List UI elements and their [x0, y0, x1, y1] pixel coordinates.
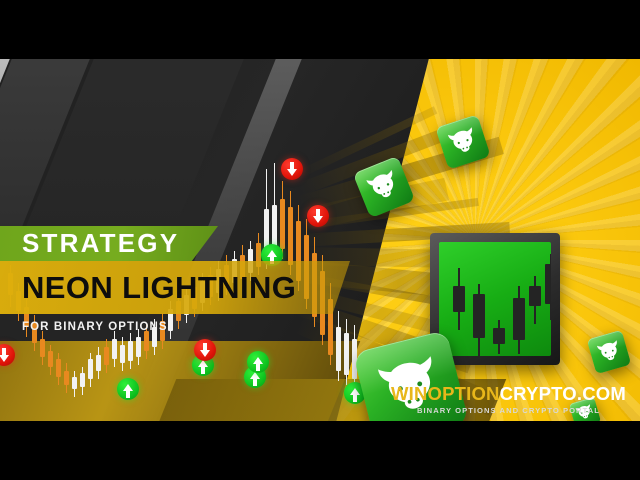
tile-candle-body: [529, 286, 541, 306]
candle-body: [80, 373, 85, 387]
candlestick-tile-face: [439, 242, 551, 356]
arrow-up-icon: [123, 384, 133, 391]
tile-candle-body: [453, 286, 465, 312]
brand-lockup: WINOPTIONCRYPTO.COM BINARY OPTIONS AND C…: [391, 385, 626, 416]
candle-body: [40, 339, 45, 357]
candle-body: [48, 351, 53, 367]
candle-body: [120, 345, 125, 363]
candle-body: [112, 339, 117, 359]
sell-signal-marker: [307, 205, 329, 227]
arrow-down-icon: [287, 169, 297, 176]
tile-candle-body: [513, 298, 525, 340]
arrow-up-icon: [253, 357, 263, 364]
poster-canvas: STRATEGY NEON LIGHTNING FOR BINARY OPTIO…: [0, 0, 640, 480]
candle-body: [96, 355, 101, 371]
poster-title: NEON LIGHTNING: [22, 270, 296, 306]
candle-body: [144, 331, 149, 351]
candle-body: [88, 359, 93, 379]
candle-body: [288, 207, 293, 265]
brand-name-part1: WINOPTION: [391, 383, 500, 404]
arrow-up-icon: [267, 250, 277, 257]
title-banner: NEON LIGHTNING: [0, 261, 350, 314]
candle-body: [64, 371, 69, 385]
strategy-banner: STRATEGY: [0, 226, 218, 261]
buy-signal-marker: [247, 351, 269, 373]
arrow-up-icon: [350, 388, 360, 395]
tile-candle-body: [493, 328, 505, 344]
strategy-banner-label: STRATEGY: [22, 228, 179, 259]
arrow-down-icon: [200, 350, 210, 357]
letterbox-bar-bottom: [0, 421, 640, 480]
poster-frame: STRATEGY NEON LIGHTNING FOR BINARY OPTIO…: [0, 59, 640, 421]
poster-subtitle: FOR BINARY OPTIONS: [22, 321, 168, 333]
candle-body: [336, 327, 341, 371]
sell-signal-marker: [0, 344, 15, 366]
brand-tagline: BINARY OPTIONS AND CRYPTO PORTAL: [391, 406, 626, 415]
arrow-down-icon: [0, 355, 9, 362]
letterbox-bar-top: [0, 0, 640, 59]
candle-body: [56, 359, 61, 377]
sell-signal-marker: [281, 158, 303, 180]
sell-signal-marker: [194, 339, 216, 361]
arrow-down-icon: [313, 216, 323, 223]
candle-body: [128, 341, 133, 361]
candle-body: [104, 347, 109, 365]
candle-body: [344, 333, 349, 375]
brand-name: WINOPTIONCRYPTO.COM: [391, 385, 626, 404]
candle-body: [136, 337, 141, 357]
tile-candle-body: [473, 294, 485, 338]
tile-candle-body: [545, 264, 551, 304]
candle-body: [280, 199, 285, 249]
candle-body: [72, 377, 77, 389]
buy-signal-marker: [117, 378, 139, 400]
brand-name-part2: CRYPTO.COM: [500, 383, 626, 404]
